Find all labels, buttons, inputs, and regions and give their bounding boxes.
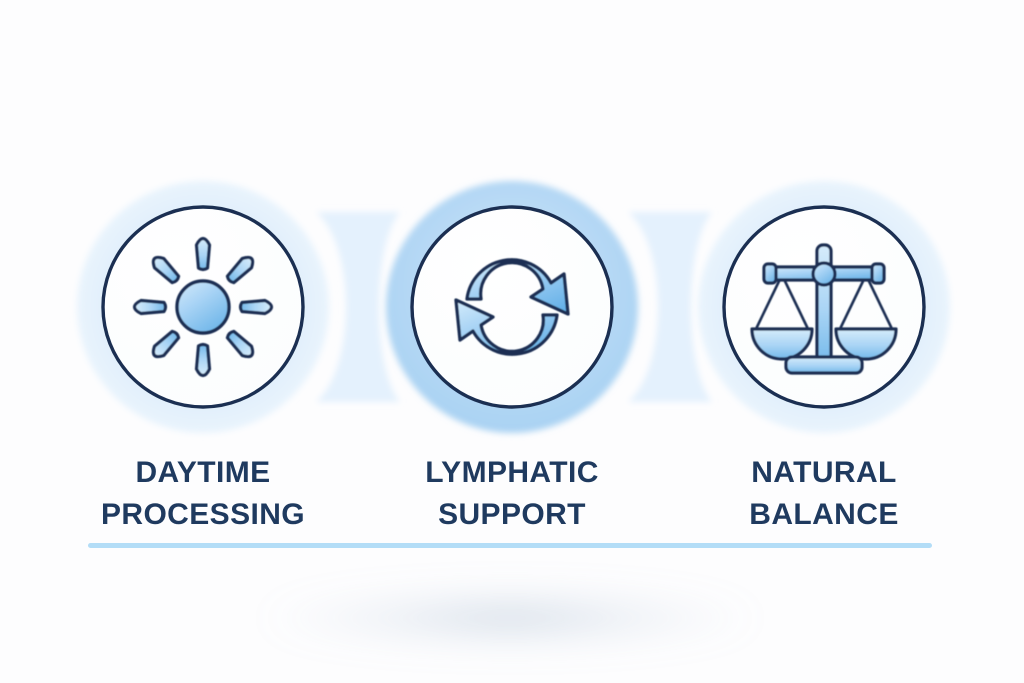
step-1-node[interactable]	[103, 207, 303, 407]
step-3-label: NATURAL BALANCE	[674, 452, 974, 536]
step-2-ring	[412, 207, 612, 407]
step-1-label: DAYTIME PROCESSING	[53, 452, 353, 536]
sun-core	[177, 281, 229, 333]
scale-base	[786, 357, 862, 373]
step-2-label: LYMPHATIC SUPPORT	[362, 452, 662, 536]
sun-icon	[135, 239, 272, 376]
divider-rule	[88, 543, 932, 548]
step-3-node[interactable]	[724, 207, 924, 407]
drop-shadow	[260, 588, 760, 648]
infographic-canvas: DAYTIME PROCESSING LYMPHATIC SUPPORT NAT…	[0, 0, 1024, 683]
scale-beam-cap-right	[872, 264, 884, 283]
scale-beam-cap-left	[764, 264, 776, 283]
scale-hub	[813, 263, 835, 285]
three-step-infographic	[0, 0, 1024, 683]
step-2-node[interactable]	[412, 207, 612, 407]
